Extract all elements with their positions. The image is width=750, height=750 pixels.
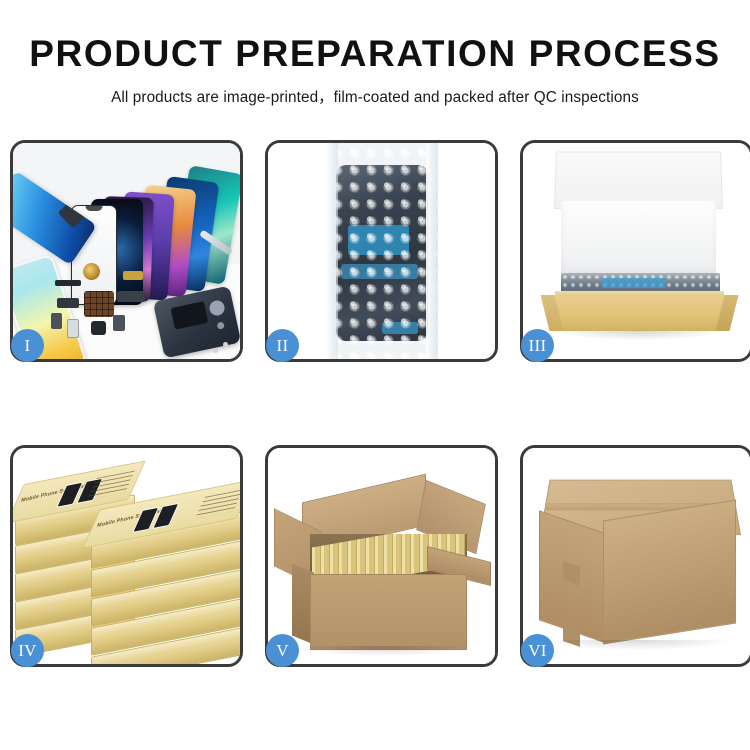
- bubble-highlight-texture: [326, 143, 438, 359]
- page-header: PRODUCT PREPARATION PROCESS All products…: [0, 0, 750, 107]
- vibration-motor-part: [83, 263, 100, 280]
- process-step-2[interactable]: II: [265, 140, 498, 362]
- bubble-wrap-scene: [268, 143, 495, 359]
- stacked-boxes-scene: Mobile Phone Spare Parts Mobile Phone Sp…: [13, 448, 240, 664]
- bubble-wrap-pouch: [326, 143, 438, 359]
- carton-shadow: [298, 646, 469, 656]
- box-shadow: [557, 331, 722, 340]
- phones-and-parts-scene: [13, 143, 240, 359]
- battery-connector-part: [113, 315, 125, 331]
- process-step-1[interactable]: I: [10, 140, 243, 362]
- process-step-6[interactable]: VI: [520, 445, 750, 667]
- sealed-carton-shadow: [541, 640, 734, 650]
- process-step-4[interactable]: Mobile Phone Spare Parts Mobile Phone Sp…: [10, 445, 243, 667]
- step-6-image: [523, 448, 750, 664]
- step-badge-1: I: [11, 329, 44, 362]
- sealed-carton-front-panel: [603, 499, 736, 644]
- step-badge-3: III: [521, 329, 554, 362]
- screw-part-1: [213, 348, 218, 353]
- open-carton-scene: [268, 448, 495, 664]
- step-badge-4: IV: [11, 634, 44, 667]
- screw-part-2: [223, 342, 228, 347]
- packed-product-accent: [602, 278, 666, 289]
- box-front-panel: [553, 295, 726, 331]
- step-2-image: [268, 143, 495, 359]
- step-5-image: [268, 448, 495, 664]
- step-3-image: [523, 143, 750, 359]
- step-badge-6: VI: [521, 634, 554, 667]
- sealed-carton-scene: [523, 448, 750, 664]
- sim-tray-part: [67, 319, 79, 338]
- glass-notch: [86, 206, 103, 211]
- process-step-3[interactable]: III: [520, 140, 750, 362]
- step-4-image: Mobile Phone Spare Parts Mobile Phone Sp…: [13, 448, 240, 664]
- step-badge-2: II: [266, 329, 299, 362]
- page-subtitle: All products are image-printed，film-coat…: [0, 85, 750, 107]
- step-badge-5: V: [266, 634, 299, 667]
- flex-cable-part-3: [123, 271, 143, 280]
- screw-grid-part: [84, 291, 114, 317]
- earpiece-speaker-part: [55, 280, 81, 286]
- side-button-part: [51, 313, 62, 329]
- pouch-seal-right: [426, 143, 438, 359]
- page-title: PRODUCT PREPARATION PROCESS: [0, 34, 750, 74]
- process-step-grid: I II: [10, 140, 740, 667]
- pouch-seal-left: [326, 143, 338, 359]
- box-spec-lines-back: [87, 471, 135, 500]
- open-inner-box-scene: [523, 143, 750, 359]
- step-1-image: [13, 143, 240, 359]
- camera-module-part: [91, 321, 106, 335]
- carton-front-panel: [310, 574, 467, 650]
- flex-cable-part-1: [57, 298, 79, 308]
- phone-notch: [107, 199, 127, 204]
- box-spec-lines-front: [195, 489, 240, 518]
- flex-cable-part-2: [117, 291, 145, 302]
- process-step-5[interactable]: V: [265, 445, 498, 667]
- foam-liner: [561, 201, 716, 279]
